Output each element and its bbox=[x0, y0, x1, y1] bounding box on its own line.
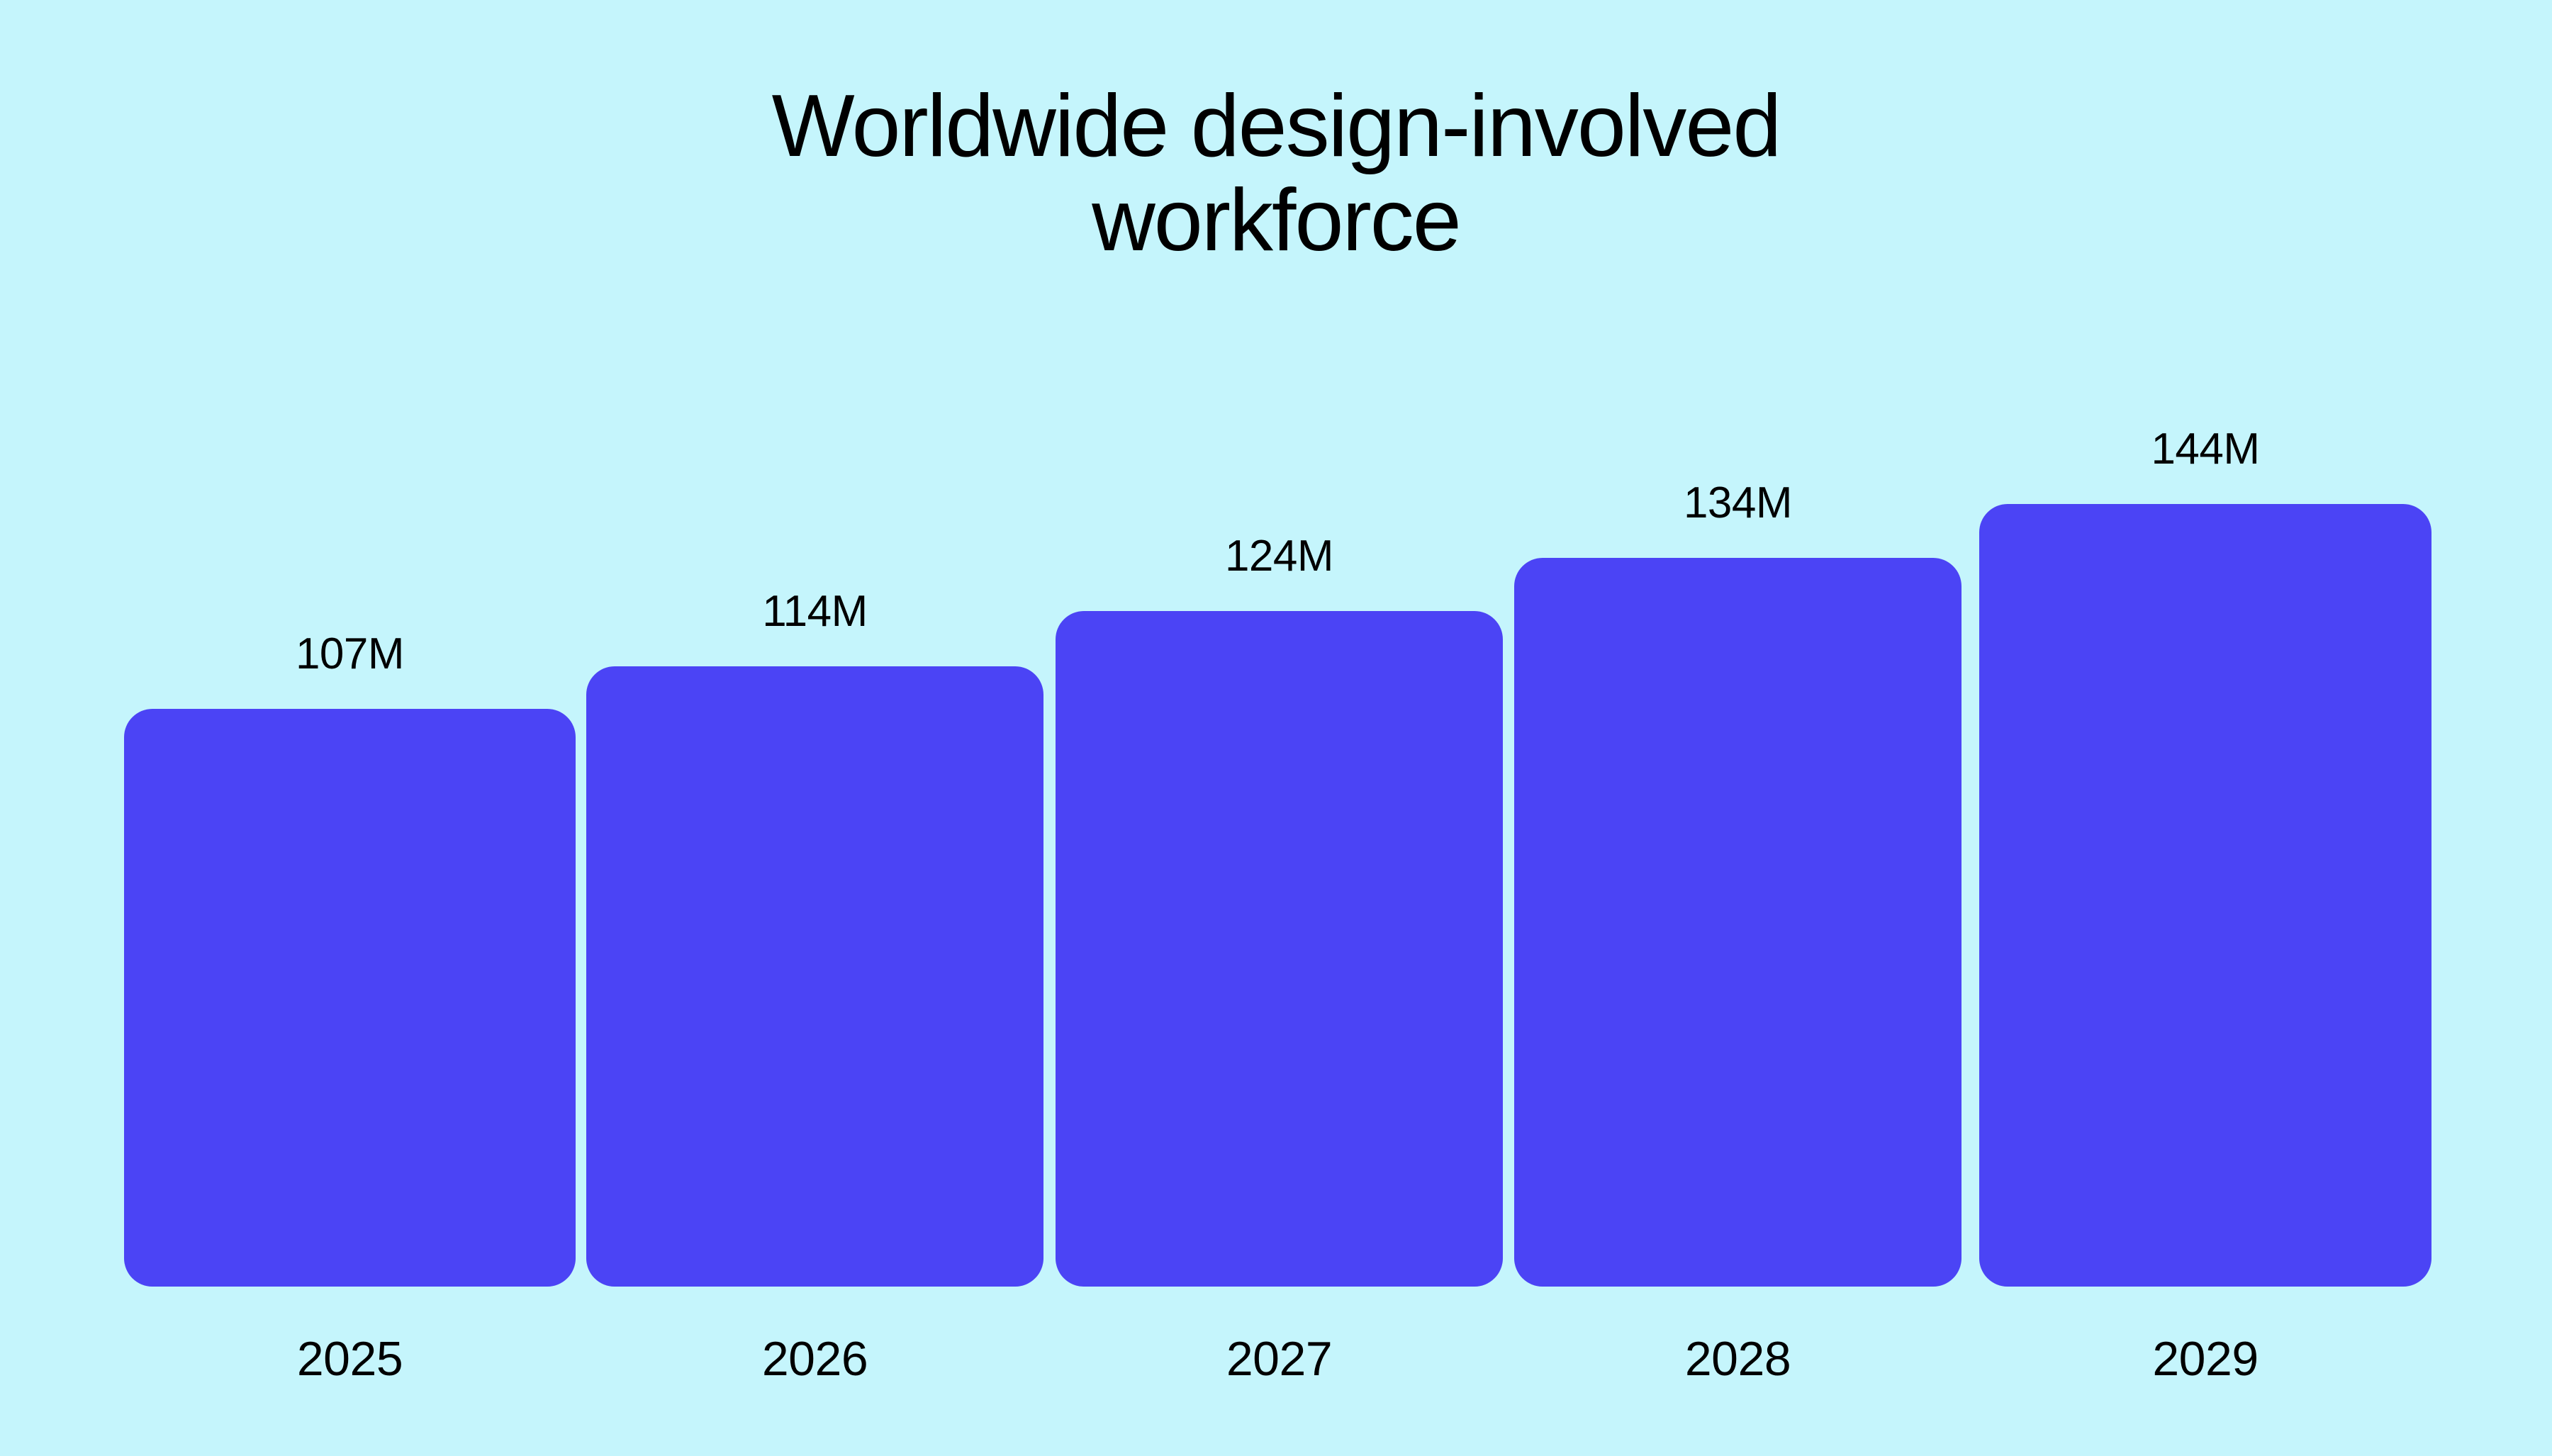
bar-value-label-2026: 114M bbox=[586, 590, 1043, 634]
bar-category-label-2027: 2027 bbox=[1056, 1335, 1503, 1383]
bar-2026[interactable] bbox=[586, 666, 1043, 1287]
bar-category-label-2028: 2028 bbox=[1514, 1335, 1961, 1383]
bar-group-2025: 107M 2025 bbox=[124, 0, 576, 1456]
bar-2029[interactable] bbox=[1979, 504, 2431, 1287]
bar-category-label-2029: 2029 bbox=[1979, 1335, 2431, 1383]
bar-chart-figure: Worldwide design-involved workforce 107M… bbox=[0, 0, 2552, 1456]
bar-2027[interactable] bbox=[1056, 611, 1503, 1287]
bar-value-label-2029: 144M bbox=[1979, 427, 2431, 471]
bar-category-label-2026: 2026 bbox=[586, 1335, 1043, 1383]
bar-value-label-2027: 124M bbox=[1056, 534, 1503, 578]
bar-group-2029: 144M 2029 bbox=[1979, 0, 2431, 1456]
bar-value-label-2025: 107M bbox=[124, 632, 576, 676]
bar-2025[interactable] bbox=[124, 709, 576, 1287]
bar-group-2027: 124M 2027 bbox=[1056, 0, 1503, 1456]
bar-group-2026: 114M 2026 bbox=[586, 0, 1043, 1456]
bar-category-label-2025: 2025 bbox=[124, 1335, 576, 1383]
bar-2028[interactable] bbox=[1514, 558, 1961, 1287]
plot-area: 107M 2025 114M 2026 124M 2027 134M 2028 … bbox=[0, 0, 2552, 1456]
bar-group-2028: 134M 2028 bbox=[1514, 0, 1961, 1456]
bar-value-label-2028: 134M bbox=[1514, 481, 1961, 525]
